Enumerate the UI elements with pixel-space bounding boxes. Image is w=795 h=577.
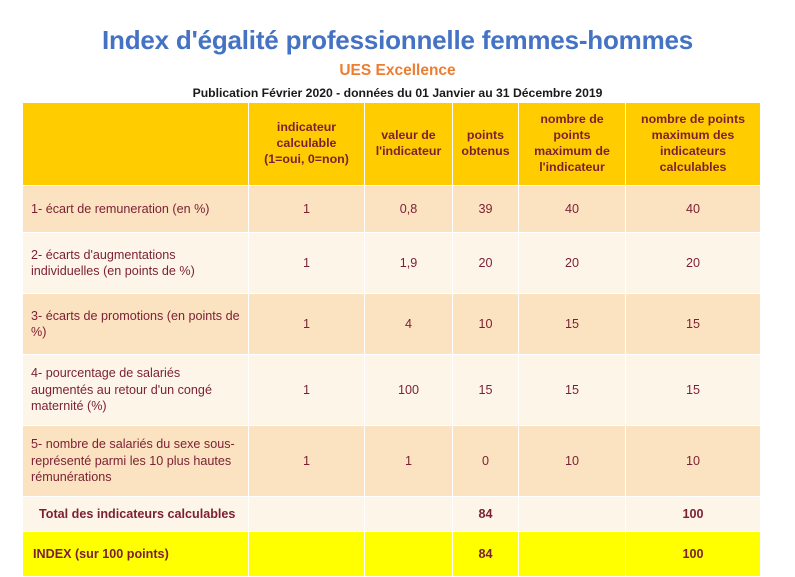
title-block: Index d'égalité professionnelle femmes-h… [0, 0, 795, 100]
cell-calculable: 1 [249, 233, 365, 294]
header-line: l'indicateur [376, 144, 442, 158]
cell-value: 1,9 [365, 233, 453, 294]
company-subtitle: UES Excellence [0, 62, 795, 80]
header-line: (1=oui, 0=non) [264, 152, 349, 166]
cell-max-points-calculable: 15 [626, 355, 761, 426]
table-row: 4- pourcentage de salariés augmentés au … [23, 355, 761, 426]
page-title: Index d'égalité professionnelle femmes-h… [0, 26, 795, 56]
column-header-calculable: indicateur calculable (1=oui, 0=non) [249, 103, 365, 186]
table-header-row: indicateur calculable (1=oui, 0=non) val… [23, 103, 761, 186]
cell-calculable: 1 [249, 355, 365, 426]
header-line: calculables [660, 160, 727, 174]
cell-points: 20 [453, 233, 519, 294]
column-header-value: valeur de l'indicateur [365, 103, 453, 186]
cell-calculable: 1 [249, 294, 365, 355]
index-calculable [249, 532, 365, 577]
total-row: Total des indicateurs calculables 84 100 [23, 497, 761, 532]
total-max-points-calculable: 100 [626, 497, 761, 532]
cell-value: 0,8 [365, 186, 453, 233]
total-calculable [249, 497, 365, 532]
cell-points: 0 [453, 426, 519, 497]
index-table: indicateur calculable (1=oui, 0=non) val… [22, 102, 761, 577]
cell-max-points-calculable: 15 [626, 294, 761, 355]
cell-indicator: 3- écarts de promotions (en points de %) [23, 294, 249, 355]
cell-max-points: 15 [519, 355, 626, 426]
cell-points: 39 [453, 186, 519, 233]
cell-max-points: 40 [519, 186, 626, 233]
table-row: 5- nombre de salariés du sexe sous-repré… [23, 426, 761, 497]
cell-max-points: 15 [519, 294, 626, 355]
cell-value: 1 [365, 426, 453, 497]
cell-indicator: 2- écarts d'augmentations individuelles … [23, 233, 249, 294]
cell-calculable: 1 [249, 186, 365, 233]
cell-indicator: 5- nombre de salariés du sexe sous-repré… [23, 426, 249, 497]
cell-max-points: 10 [519, 426, 626, 497]
report-page: Index d'égalité professionnelle femmes-h… [0, 0, 795, 545]
total-max-points [519, 497, 626, 532]
total-points: 84 [453, 497, 519, 532]
header-line: indicateurs [660, 144, 726, 158]
cell-max-points-calculable: 20 [626, 233, 761, 294]
table-row: 3- écarts de promotions (en points de %)… [23, 294, 761, 355]
index-value [365, 532, 453, 577]
header-line: obtenus [461, 144, 509, 158]
header-line: points [467, 128, 504, 142]
table-row: 1- écart de remuneration (en %) 1 0,8 39… [23, 186, 761, 233]
cell-indicator: 4- pourcentage de salariés augmentés au … [23, 355, 249, 426]
index-points: 84 [453, 532, 519, 577]
table-row: 2- écarts d'augmentations individuelles … [23, 233, 761, 294]
column-header-max-points: nombre de points maximum de l'indicateur [519, 103, 626, 186]
index-max-points [519, 532, 626, 577]
column-header-points: points obtenus [453, 103, 519, 186]
total-value [365, 497, 453, 532]
header-line: l'indicateur [539, 160, 605, 174]
cell-points: 15 [453, 355, 519, 426]
header-line: valeur de [381, 128, 435, 142]
header-line: calculable [277, 136, 337, 150]
header-line: nombre de [540, 112, 603, 126]
index-max-points-calculable: 100 [626, 532, 761, 577]
index-label: INDEX (sur 100 points) [23, 532, 249, 577]
cell-max-points-calculable: 10 [626, 426, 761, 497]
column-header-max-points-calculable: nombre de points maximum des indicateurs… [626, 103, 761, 186]
cell-points: 10 [453, 294, 519, 355]
cell-calculable: 1 [249, 426, 365, 497]
publication-period: Publication Février 2020 - données du 01… [0, 86, 795, 100]
header-line: points [553, 128, 590, 142]
cell-max-points: 20 [519, 233, 626, 294]
header-line: maximum des [652, 128, 735, 142]
cell-value: 100 [365, 355, 453, 426]
total-label: Total des indicateurs calculables [23, 497, 249, 532]
header-line: indicateur [277, 120, 336, 134]
header-line: maximum de [534, 144, 610, 158]
cell-indicator: 1- écart de remuneration (en %) [23, 186, 249, 233]
cell-value: 4 [365, 294, 453, 355]
header-line: nombre de points [641, 112, 745, 126]
index-table-container: indicateur calculable (1=oui, 0=non) val… [22, 102, 760, 577]
index-row: INDEX (sur 100 points) 84 100 [23, 532, 761, 577]
column-header-indicator [23, 103, 249, 186]
cell-max-points-calculable: 40 [626, 186, 761, 233]
